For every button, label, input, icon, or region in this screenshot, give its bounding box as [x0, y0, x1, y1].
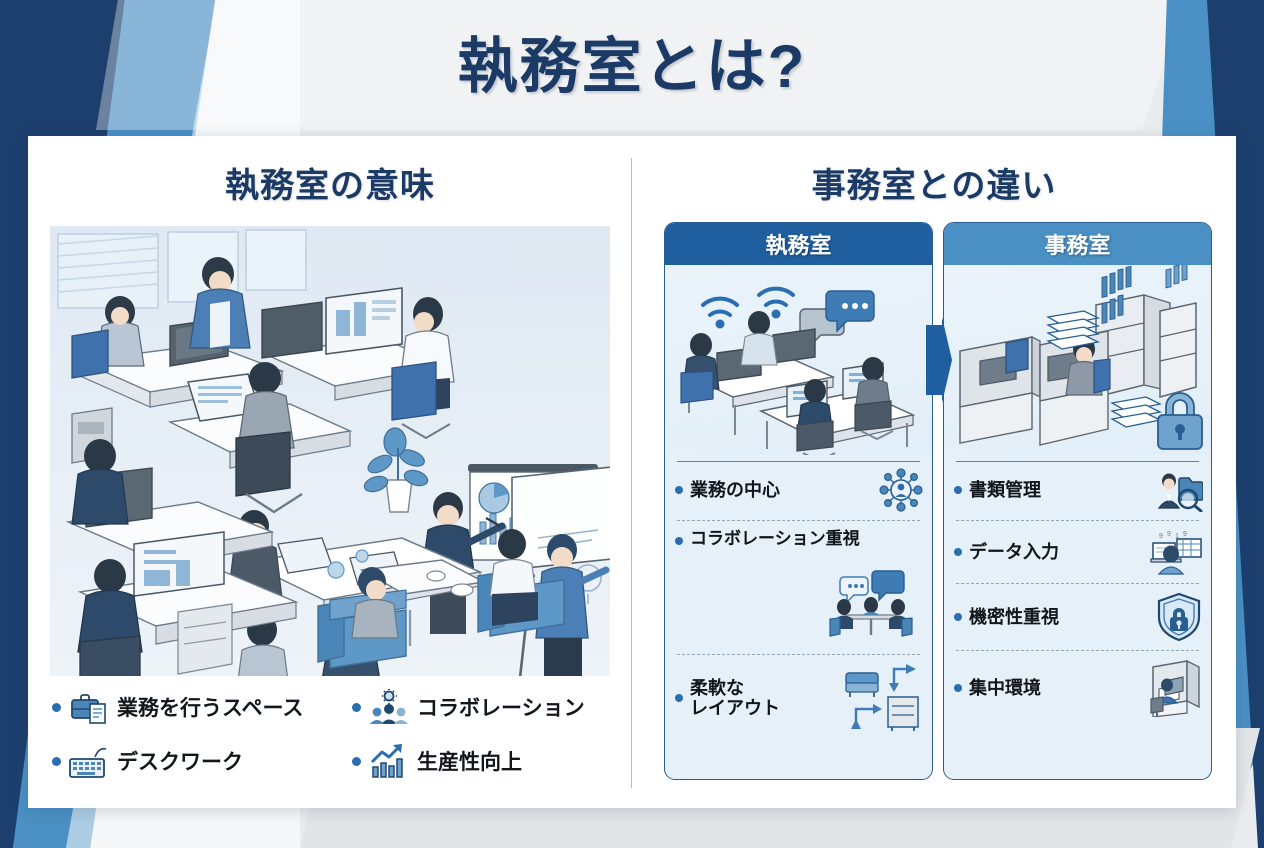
content-card: 執務室の意味: [28, 136, 1236, 808]
right-arrow-icon: [926, 317, 952, 403]
list-separator: [677, 654, 920, 655]
svg-text:9: 9: [1159, 533, 1163, 540]
panel-list-item: コラボレーション重視: [665, 529, 932, 569]
panel-list-item: 集中環境: [944, 659, 1211, 717]
list-separator: [677, 520, 920, 521]
bullet-dot-icon: [52, 757, 61, 766]
collaboration-people-gear-icon: [368, 688, 410, 726]
right-section-heading: 事務室との違い: [632, 158, 1236, 207]
svg-text:9: 9: [1167, 531, 1171, 538]
svg-text:9: 9: [1183, 531, 1187, 538]
panel-item-label: 業務の中心: [690, 480, 878, 500]
panel-item-label-line2: レイアウト: [690, 698, 780, 718]
bullet-dot-icon: [954, 548, 962, 556]
left-bullet-list: 業務を行うスペース: [52, 688, 618, 780]
sofa-cabinet-arrows-icon: [842, 663, 924, 733]
bullet-dot-icon: [954, 684, 962, 692]
list-separator: [956, 520, 1199, 521]
left-section: 執務室の意味: [28, 136, 632, 808]
open-collaborative-desks-wifi-illustration: [665, 265, 932, 455]
network-person-hub-icon: [878, 468, 924, 512]
left-bullet-label: 業務を行うスペース: [117, 692, 303, 722]
panel-item-label: コラボレーション重視: [690, 529, 924, 548]
bullet-dot-icon: [52, 703, 61, 712]
bullet-dot-icon: [352, 757, 361, 766]
bullet-dot-icon: [954, 613, 962, 621]
isometric-open-office-illustration: [50, 226, 610, 676]
panel-item-label: データ入力: [969, 542, 1147, 562]
left-bullet-item: デスクワーク: [52, 742, 352, 780]
list-separator: [956, 650, 1199, 651]
meeting-table-chat-icon: [824, 567, 918, 646]
panel-item-label: 機密性重視: [969, 607, 1155, 627]
growth-chart-arrow-icon: [368, 742, 410, 780]
panel-item-label-line1: 柔軟な: [690, 678, 744, 698]
briefcase-document-icon: [68, 688, 110, 726]
comparison-panels: 執務室: [664, 222, 1212, 780]
focus-booth-icon: [1143, 659, 1203, 717]
list-separator: [956, 461, 1199, 462]
bullet-dot-icon: [352, 703, 361, 712]
shield-lock-icon: [1155, 592, 1203, 642]
bullet-dot-icon: [954, 486, 962, 494]
keyboard-icon: [68, 742, 110, 780]
comparison-panel-jimushitsu: 事務室: [943, 222, 1212, 780]
panel-list-item: データ入力 9919: [944, 529, 1211, 575]
bullet-dot-icon: [675, 537, 683, 545]
left-bullet-item: コラボレーション: [352, 688, 618, 726]
cubicle-filing-cabinets-lock-illustration: [944, 265, 1211, 455]
data-entry-monitor-icon: 9919: [1147, 529, 1203, 575]
panel-list-item: 機密性重視: [944, 592, 1211, 642]
comparison-panel-shitsumushitsu: 執務室: [664, 222, 933, 780]
left-bullet-item: 業務を行うスペース: [52, 688, 352, 726]
panel-list-item: 業務の中心: [665, 468, 932, 512]
panel-item-label: 柔軟な レイアウト: [690, 678, 842, 718]
right-section: 事務室との違い 執務室: [632, 136, 1236, 808]
page-title-text: 執務室とは?: [458, 33, 807, 100]
list-separator: [677, 461, 920, 462]
panel-list-item: 柔軟な レイアウト: [665, 663, 932, 733]
left-bullet-label: コラボレーション: [417, 692, 585, 722]
list-separator: [956, 583, 1199, 584]
column-divider: [631, 158, 632, 788]
panel-item-list-shitsumushitsu: 業務の中心: [665, 455, 932, 779]
bullet-dot-icon: [675, 486, 683, 494]
panel-item-label: 書類管理: [969, 480, 1157, 500]
panel-header-jimushitsu: 事務室: [944, 223, 1211, 265]
panel-header-shitsumushitsu: 執務室: [665, 223, 932, 265]
left-bullet-label: 生産性向上: [417, 746, 522, 776]
page-title: 執務室とは?: [0, 18, 1264, 105]
left-bullet-label: デスクワーク: [117, 746, 243, 776]
panel-item-list-jimushitsu: 書類管理: [944, 455, 1211, 779]
panel-item-label: 集中環境: [969, 678, 1143, 698]
left-section-heading: 執務室の意味: [28, 158, 632, 207]
panel-list-item: 書類管理: [944, 468, 1211, 512]
bullet-dot-icon: [675, 694, 683, 702]
person-folder-magnifier-icon: [1157, 468, 1203, 512]
left-bullet-item: 生産性向上: [352, 742, 618, 780]
